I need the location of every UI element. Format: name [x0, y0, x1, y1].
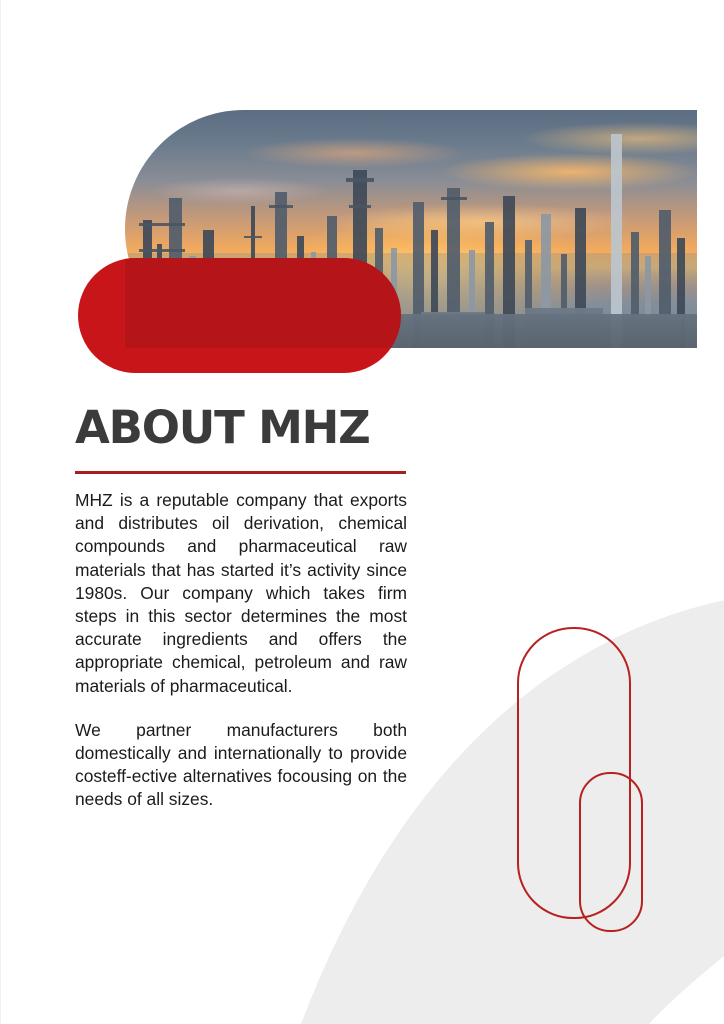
body-paragraph-2: We partner manufacturers both domestical… — [75, 698, 407, 812]
body-paragraph-1: MHZ is a reputable company that exports … — [75, 474, 407, 698]
red-pill-photo-overlay — [78, 258, 401, 373]
outlined-pill-small — [579, 772, 643, 932]
red-tint-region — [125, 258, 401, 348]
content-block: ABOUT MHZ MHZ is a reputable company tha… — [75, 404, 407, 812]
page-title: ABOUT MHZ — [75, 404, 407, 452]
about-page: ABOUT MHZ MHZ is a reputable company tha… — [0, 0, 724, 1024]
